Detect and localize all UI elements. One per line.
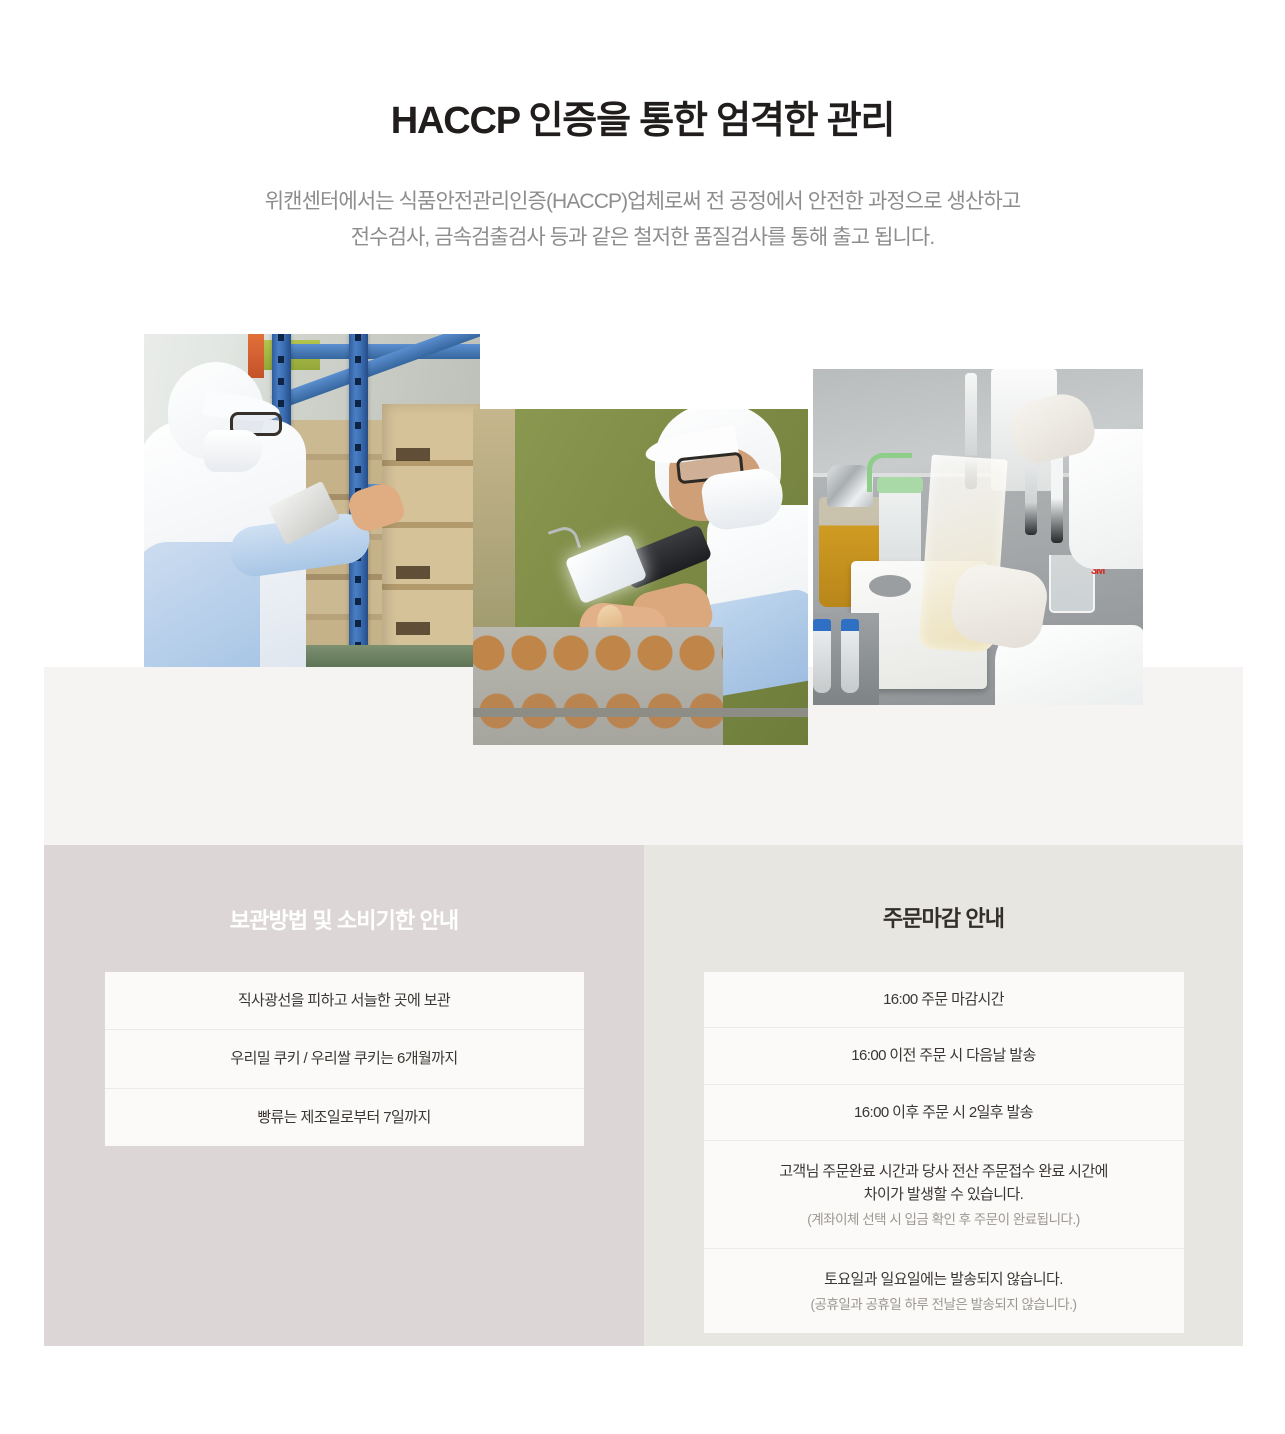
deadline-row-text: 16:00 이전 주문 시 다음날 발송 bbox=[718, 1044, 1170, 1067]
storage-info-row: 직사광선을 피하고 서늘한 곳에 보관 bbox=[105, 972, 584, 1029]
deadline-info-row: 16:00 이전 주문 시 다음날 발송 bbox=[704, 1027, 1184, 1083]
storage-panel-heading: 보관방법 및 소비기한 안내 bbox=[44, 845, 644, 932]
egg-tray-stack bbox=[473, 627, 723, 745]
info-panels: 보관방법 및 소비기한 안내 직사광선을 피하고 서늘한 곳에 보관 우리밀 쿠… bbox=[44, 845, 1243, 1346]
storage-info-row: 우리밀 쿠키 / 우리쌀 쿠키는 6개월까지 bbox=[105, 1029, 584, 1087]
deadline-row-subtext: (계좌이체 선택 시 입금 확인 후 주문이 완료됩니다.) bbox=[718, 1210, 1170, 1231]
storage-info-card: 직사광선을 피하고 서늘한 곳에 보관 우리밀 쿠키 / 우리쌀 쿠키는 6개월… bbox=[105, 972, 584, 1146]
test-tube bbox=[813, 619, 831, 693]
rack-upright-orange bbox=[248, 334, 264, 378]
order-deadline-panel: 주문마감 안내 16:00 주문 마감시간 16:00 이전 주문 시 다음날 … bbox=[644, 845, 1243, 1346]
wash-bottle-tube bbox=[867, 453, 912, 492]
storage-row-text: 직사광선을 피하고 서늘한 곳에 보관 bbox=[119, 989, 570, 1012]
sack-label bbox=[396, 566, 430, 579]
storage-info-row: 빵류는 제조일로부터 7일까지 bbox=[105, 1088, 584, 1146]
test-tube bbox=[841, 619, 859, 693]
deadline-info-row: 16:00 이후 주문 시 2일후 발송 bbox=[704, 1084, 1184, 1140]
deadline-row-text: 토요일과 일요일에는 발송되지 않습니다. bbox=[718, 1268, 1170, 1291]
sack-label bbox=[396, 448, 430, 461]
photo-collage: 3M bbox=[0, 0, 1285, 850]
caddy-handle-hole bbox=[869, 575, 911, 597]
laboratory-testing-photo: 3M bbox=[813, 369, 1143, 705]
deadline-info-row: 고객님 주문완료 시간과 당사 전산 주문접수 완료 시간에차이가 발생할 수 … bbox=[704, 1140, 1184, 1248]
storage-info-panel: 보관방법 및 소비기한 안내 직사광선을 피하고 서늘한 곳에 보관 우리밀 쿠… bbox=[44, 845, 644, 1346]
storage-row-text: 빵류는 제조일로부터 7일까지 bbox=[119, 1106, 570, 1129]
sack-label bbox=[396, 622, 430, 635]
egg-tray-edge bbox=[473, 708, 808, 717]
deadline-info-row: 토요일과 일요일에는 발송되지 않습니다. (공휴일과 공휴일 하루 전날은 발… bbox=[704, 1248, 1184, 1333]
deadline-panel-heading: 주문마감 안내 bbox=[644, 845, 1243, 930]
deadline-info-card: 16:00 주문 마감시간 16:00 이전 주문 시 다음날 발송 16:00… bbox=[704, 972, 1184, 1333]
storage-row-text: 우리밀 쿠키 / 우리쌀 쿠키는 6개월까지 bbox=[119, 1047, 570, 1070]
deadline-row-subtext: (공휴일과 공휴일 하루 전날은 발송되지 않습니다.) bbox=[718, 1295, 1170, 1316]
deadline-row-text: 16:00 주문 마감시간 bbox=[718, 988, 1170, 1011]
deadline-row-text: 고객님 주문완료 시간과 당사 전산 주문접수 완료 시간에차이가 발생할 수 … bbox=[718, 1160, 1170, 1207]
deadline-info-row: 16:00 주문 마감시간 bbox=[704, 972, 1184, 1027]
warehouse-inspection-photo bbox=[144, 334, 480, 667]
deadline-row-text: 16:00 이후 주문 시 2일후 발송 bbox=[718, 1101, 1170, 1124]
egg-candling-inspection-photo bbox=[473, 409, 808, 745]
worker-face-mask bbox=[204, 430, 262, 472]
